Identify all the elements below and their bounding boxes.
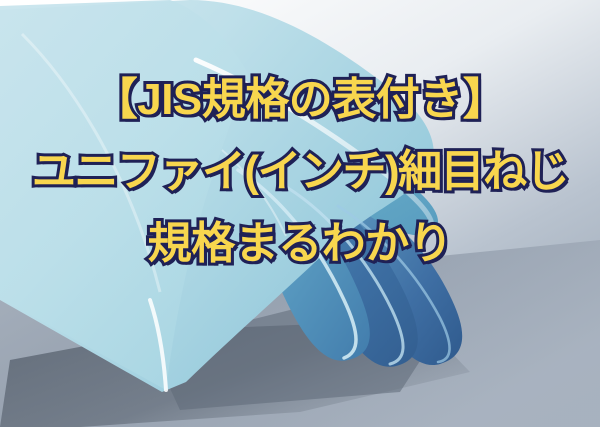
thumbnail-canvas: 【JIS規格の表付き】 ユニファイ(インチ)細目ねじ 規格まるわかり — [0, 0, 600, 427]
curled-paper-background-illustration — [0, 0, 600, 427]
